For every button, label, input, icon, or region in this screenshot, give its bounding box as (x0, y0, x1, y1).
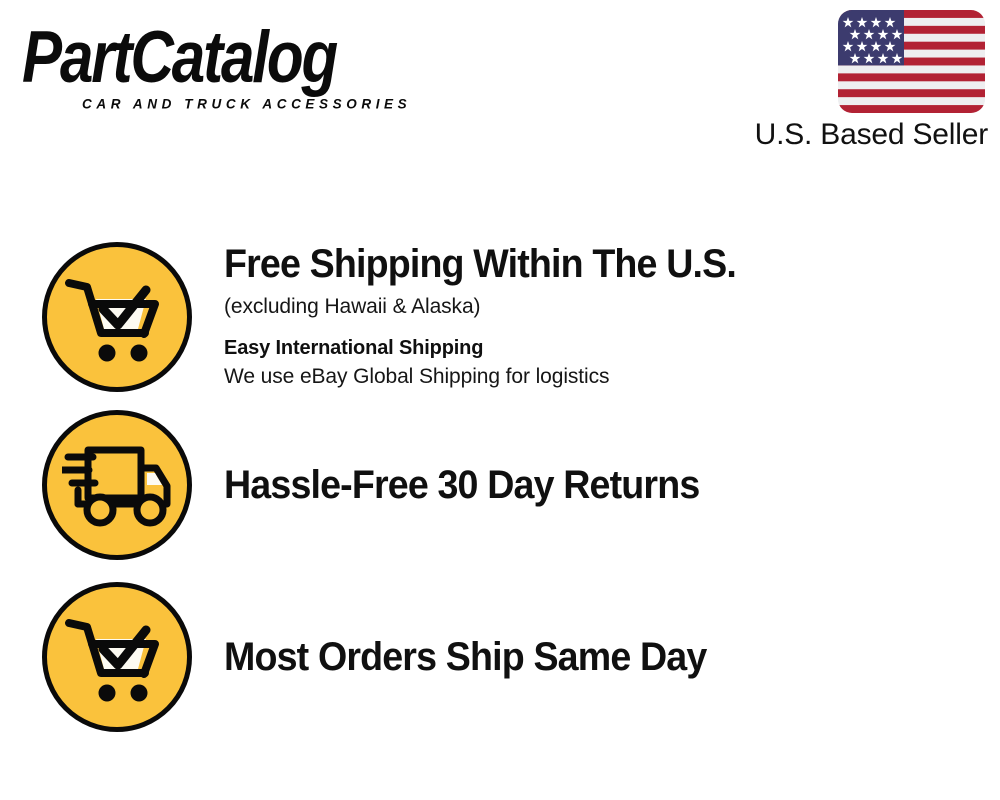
seller-info-banner: PartCatalog CAR AND TRUCK ACCESSORIES (0, 0, 1000, 800)
feature-subtext-detail: We use eBay Global Shipping for logistic… (224, 363, 980, 390)
feature-subtext-strong: Easy International Shipping (224, 335, 980, 361)
delivery-truck-icon (42, 410, 192, 560)
feature-heading: Hassle-Free 30 Day Returns (224, 464, 935, 506)
feature-row: Free Shipping Within The U.S. (excluding… (0, 232, 1000, 402)
shopping-cart-check-icon (42, 242, 192, 392)
feature-text-block: Most Orders Ship Same Day (224, 636, 1000, 678)
partcatalog-logo[interactable]: PartCatalog CAR AND TRUCK ACCESSORIES (22, 22, 492, 112)
feature-text-block: Free Shipping Within The U.S. (excluding… (224, 243, 1000, 390)
feature-subtext: (excluding Hawaii & Alaska) (224, 293, 980, 321)
shopping-cart-check-icon (42, 582, 192, 732)
us-based-seller-label: U.S. Based Seller (755, 118, 988, 152)
feature-heading: Free Shipping Within The U.S. (224, 243, 935, 285)
feature-row: Hassle-Free 30 Day Returns (0, 404, 1000, 566)
brand-wordmark: PartCatalog (22, 22, 478, 95)
us-flag-icon (838, 10, 985, 113)
feature-heading: Most Orders Ship Same Day (224, 636, 935, 678)
brand-tagline: CAR AND TRUCK ACCESSORIES (82, 96, 411, 112)
feature-text-block: Hassle-Free 30 Day Returns (224, 464, 1000, 506)
feature-row: Most Orders Ship Same Day (0, 576, 1000, 738)
